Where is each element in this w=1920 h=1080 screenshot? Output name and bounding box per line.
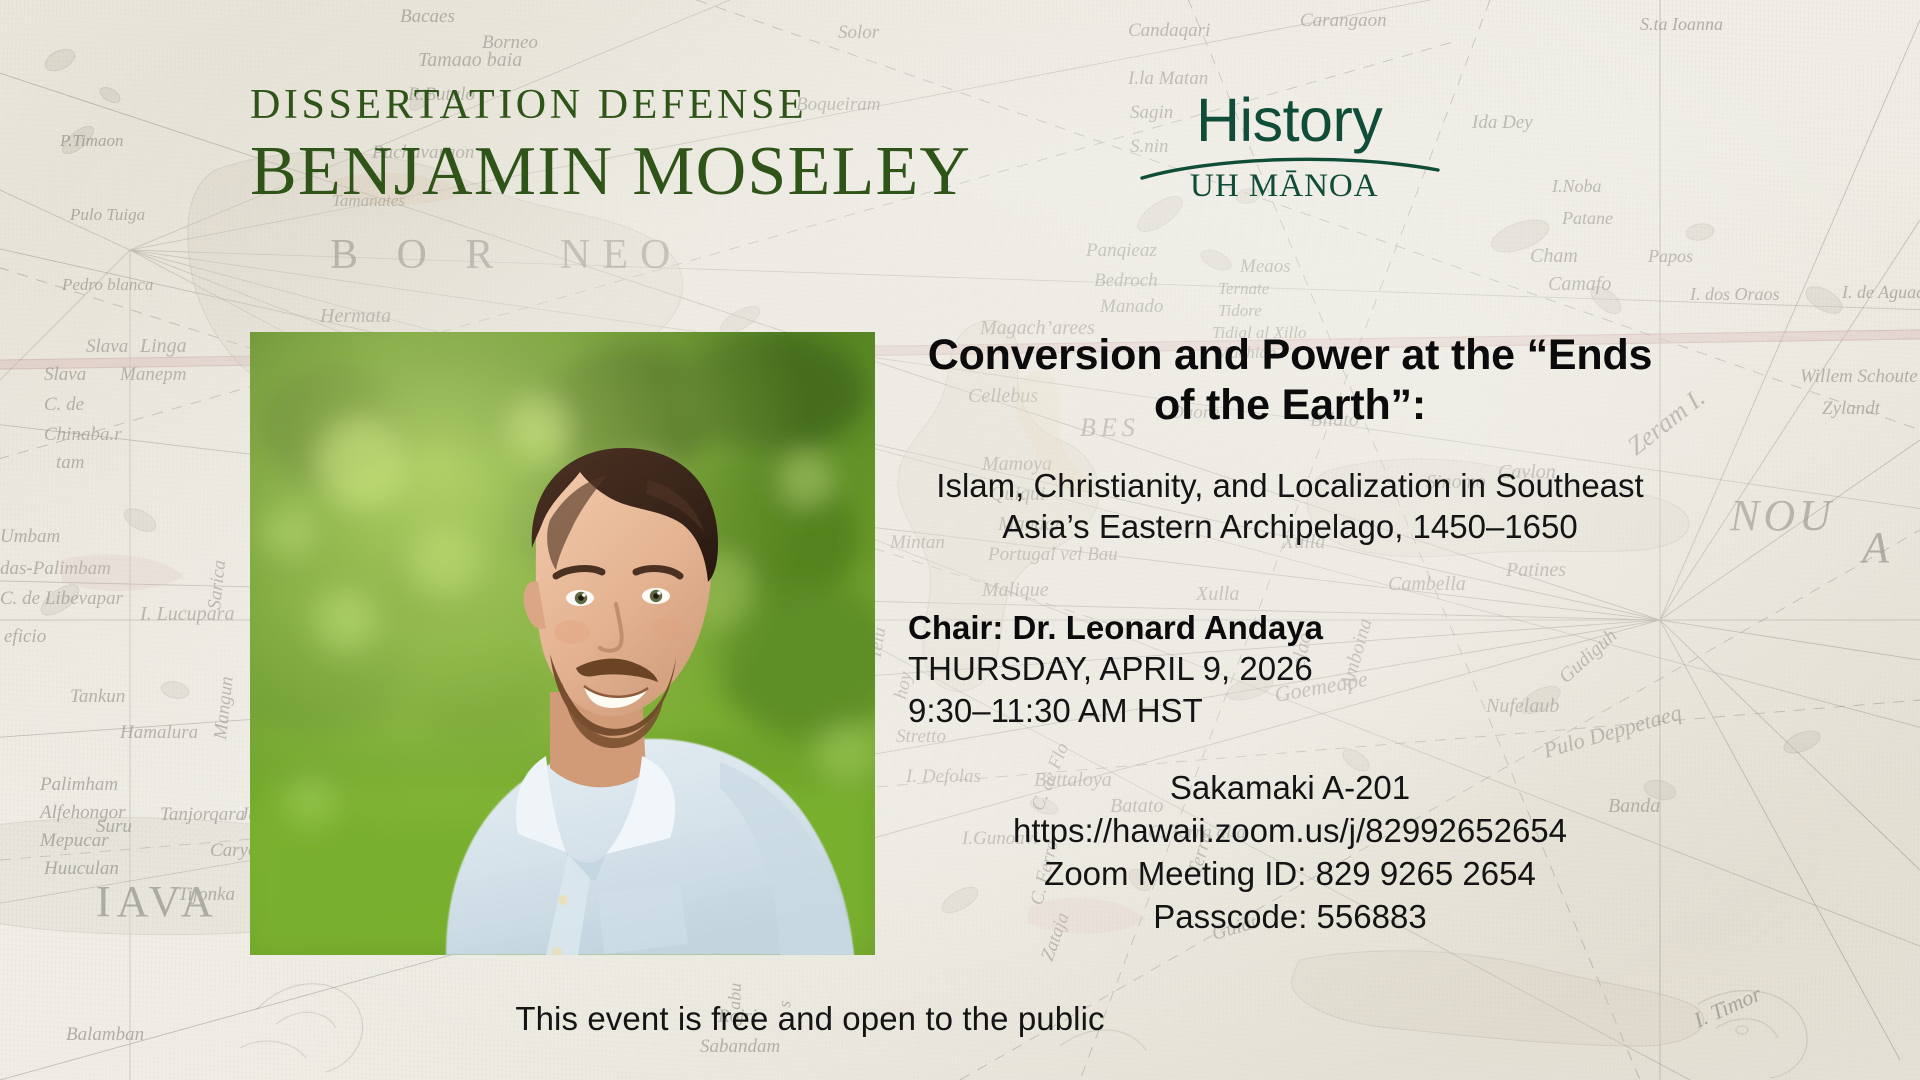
event-time: 9:30–11:30 AM HST	[908, 690, 1700, 732]
svg-text:Meaos: Meaos	[1239, 256, 1291, 277]
svg-text:Suru: Suru	[96, 816, 132, 837]
svg-text:NOU: NOU	[1729, 491, 1835, 540]
svg-text:Tankun: Tankun	[70, 686, 125, 707]
poster-canvas: Bacaes Solor Candaqari Carangaon S.ta Io…	[0, 0, 1920, 1080]
header-block: DISSERTATION DEFENSE BENJAMIN MOSELEY	[250, 84, 971, 210]
svg-text:Palimham: Palimham	[39, 774, 118, 795]
candidate-headshot-photo	[250, 332, 875, 955]
svg-text:Papos: Papos	[1647, 246, 1693, 266]
svg-text:I. de Aguada: I. de Aguada	[1841, 282, 1920, 302]
svg-text:Cham: Cham	[1530, 245, 1578, 267]
svg-text:Carangaon: Carangaon	[1300, 10, 1387, 31]
svg-text:Sabandam: Sabandam	[700, 1036, 780, 1057]
talk-subtitle: Islam, Christianity, and Localization in…	[880, 465, 1700, 548]
svg-text:NEO: NEO	[560, 232, 682, 278]
talk-info-column: Conversion and Power at the “Ends of the…	[880, 330, 1700, 939]
svg-text:Manepm: Manepm	[119, 364, 186, 385]
uh-manoa-history-logo: History UH MĀNOA	[1140, 92, 1440, 204]
svg-text:eficio: eficio	[4, 626, 46, 647]
svg-text:Chinaba.r: Chinaba.r	[44, 424, 122, 445]
svg-text:Willem Schoute: Willem Schoute	[1800, 366, 1918, 387]
logo-wordmark-history: History	[1196, 90, 1382, 151]
svg-text:S.ta Ioanna: S.ta Ioanna	[1640, 14, 1723, 34]
svg-text:Camafo: Camafo	[1548, 273, 1611, 295]
svg-text:Borneo: Borneo	[482, 32, 538, 53]
talk-title: Conversion and Power at the “Ends of the…	[880, 330, 1700, 431]
svg-text:C. de Libevapar: C. de Libevapar	[0, 588, 124, 609]
svg-text:IAVA: IAVA	[96, 877, 219, 926]
public-event-note-text: This event is free and open to the publi…	[515, 1000, 1104, 1037]
svg-text:Pulo Tuiga: Pulo Tuiga	[69, 205, 145, 224]
svg-text:Candaqari: Candaqari	[1128, 20, 1210, 41]
svg-text:Tanjorqara: Tanjorqara	[160, 804, 245, 825]
svg-text:Tidore: Tidore	[1218, 301, 1262, 320]
svg-text:P.Timaon: P.Timaon	[59, 131, 123, 150]
committee-chair: Chair: Dr. Leonard Andaya	[908, 608, 1700, 648]
talk-subtitle-line-2: Asia’s Eastern Archipelago, 1450–1650	[880, 506, 1700, 548]
headshot-illustration	[250, 332, 875, 955]
svg-text:B O R: B O R	[330, 232, 507, 278]
svg-text:Linga: Linga	[139, 335, 187, 357]
event-details-block: Chair: Dr. Leonard Andaya THURSDAY, APRI…	[880, 608, 1700, 731]
svg-text:I.Noba: I.Noba	[1551, 176, 1602, 196]
zoom-meeting-id: Zoom Meeting ID: 829 9265 2654	[880, 853, 1700, 896]
svg-text:Hamalura: Hamalura	[119, 722, 198, 743]
talk-title-line-2: of the Earth”:	[880, 380, 1700, 430]
talk-subtitle-line-1: Islam, Christianity, and Localization in…	[880, 465, 1700, 507]
svg-text:Ida Dey: Ida Dey	[1471, 112, 1533, 133]
svg-text:Zylandt: Zylandt	[1822, 398, 1881, 419]
svg-text:Pedro blanca: Pedro blanca	[61, 275, 153, 294]
public-event-note: This event is free and open to the publi…	[0, 1000, 1920, 1038]
svg-text:Umbam: Umbam	[0, 526, 60, 547]
venue-and-zoom-block: Sakamaki A-201 https://hawaii.zoom.us/j/…	[880, 767, 1700, 939]
logo-subtitle-uh-manoa: UH MĀNOA	[1190, 170, 1379, 203]
svg-text:Panqieaz: Panqieaz	[1085, 240, 1157, 261]
svg-text:Bedroch: Bedroch	[1094, 270, 1158, 291]
venue-room: Sakamaki A-201	[880, 767, 1700, 810]
event-type-label: DISSERTATION DEFENSE	[250, 84, 971, 126]
candidate-name: BENJAMIN MOSELEY	[250, 134, 971, 210]
svg-text:A: A	[1859, 523, 1890, 572]
svg-text:Slava: Slava	[86, 336, 128, 357]
svg-text:C. de: C. de	[44, 394, 84, 415]
svg-text:Solor: Solor	[838, 22, 880, 43]
svg-text:Patane: Patane	[1561, 208, 1613, 228]
zoom-passcode: Passcode: 556883	[880, 896, 1700, 939]
svg-text:Huuculan: Huuculan	[43, 858, 119, 879]
svg-text:tam: tam	[56, 452, 85, 473]
svg-text:I. dos Oraos: I. dos Oraos	[1689, 284, 1780, 304]
svg-text:Manado: Manado	[1099, 296, 1163, 317]
event-date: THURSDAY, APRIL 9, 2026	[908, 648, 1700, 690]
svg-text:Bacaes: Bacaes	[400, 6, 455, 27]
svg-text:Hermata: Hermata	[319, 305, 391, 327]
zoom-join-link[interactable]: https://hawaii.zoom.us/j/82992652654	[880, 810, 1700, 853]
talk-title-line-1: Conversion and Power at the “Ends	[880, 330, 1700, 380]
svg-text:Ternate: Ternate	[1218, 279, 1270, 298]
svg-text:Slava: Slava	[44, 364, 86, 385]
